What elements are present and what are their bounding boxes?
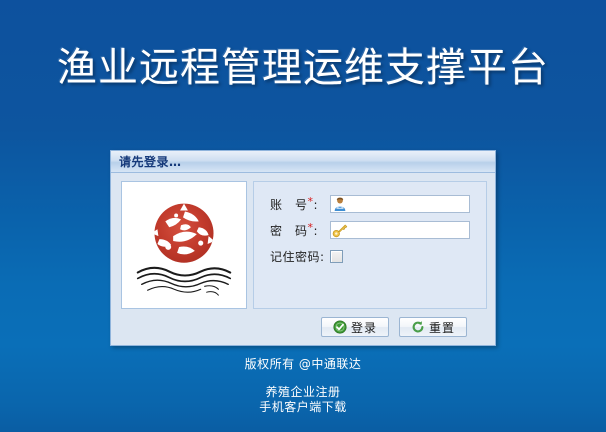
page-title: 渔业远程管理运维支撑平台: [0, 44, 606, 92]
remember-row: 记住密码:: [270, 246, 486, 266]
green-check-icon: [333, 320, 347, 334]
login-panel: 请先登录…: [110, 150, 496, 346]
password-label: 密 码*:: [270, 222, 328, 239]
password-input[interactable]: [350, 222, 504, 239]
account-row: 账 号*:: [270, 194, 486, 214]
password-row: 密 码*:: [270, 220, 486, 240]
register-enterprise-link[interactable]: 养殖企业注册: [0, 385, 606, 400]
login-form: 账 号*: 密 码*:: [253, 181, 487, 309]
reset-button[interactable]: 重置: [399, 317, 467, 337]
mobile-client-download-link[interactable]: 手机客户端下载: [0, 400, 606, 415]
password-colon: :: [314, 224, 319, 238]
footer-links: 养殖企业注册 手机客户端下载: [0, 385, 606, 415]
login-panel-body: 账 号*: 密 码*:: [111, 173, 495, 346]
remember-password-checkbox[interactable]: [330, 250, 343, 263]
login-panel-header: 请先登录…: [111, 151, 495, 173]
login-button[interactable]: 登录: [321, 317, 389, 337]
login-page: 渔业远程管理运维支撑平台 请先登录…: [0, 0, 606, 432]
login-panel-footer: 登录 重置: [117, 313, 489, 341]
account-input-wrapper[interactable]: [330, 195, 470, 213]
key-icon: [332, 222, 348, 238]
reset-button-label: 重置: [429, 319, 455, 336]
account-colon: :: [314, 198, 319, 212]
login-panel-title: 请先登录…: [119, 153, 182, 170]
green-refresh-icon: [411, 320, 425, 334]
remember-colon: :: [320, 250, 325, 264]
password-input-wrapper[interactable]: [330, 221, 470, 239]
remember-label: 记住密码:: [270, 248, 328, 265]
login-button-label: 登录: [351, 319, 377, 336]
user-icon: [332, 196, 348, 212]
copyright-text: 版权所有 @中通联达: [0, 355, 606, 372]
account-input[interactable]: [350, 196, 504, 213]
account-label: 账 号*:: [270, 196, 328, 213]
fishery-seal-logo: [122, 182, 246, 308]
logo-box: [121, 181, 247, 309]
